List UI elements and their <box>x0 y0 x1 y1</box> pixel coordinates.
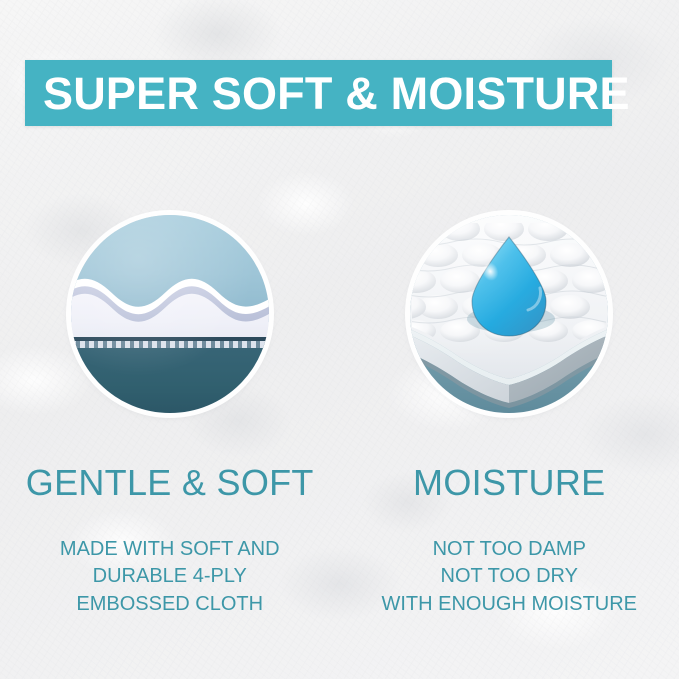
feature-column-moisture: MOISTURE NOT TOO DAMP NOT TOO DRY WITH E… <box>340 215 679 618</box>
feature-body-line: EMBOSSED CLOTH <box>60 591 280 618</box>
cloth-base-layer <box>71 342 269 413</box>
layered-cloth-cross-section-icon <box>71 215 269 413</box>
feature-body-line: DURABLE 4-PLY <box>60 563 280 590</box>
feature-heading-gentle-soft: GENTLE & SOFT <box>26 465 314 501</box>
feature-body-line: NOT TOO DRY <box>381 563 637 590</box>
feature-body-line: NOT TOO DAMP <box>381 536 637 563</box>
droplet-scene <box>410 215 608 413</box>
water-droplet-on-cloth-icon <box>410 215 608 413</box>
cloth-stitching-line <box>71 341 269 348</box>
feature-heading-moisture: MOISTURE <box>413 465 605 501</box>
feature-body-line: WITH ENOUGH MOISTURE <box>381 591 637 618</box>
feature-columns: GENTLE & SOFT MADE WITH SOFT AND DURABLE… <box>0 215 679 618</box>
feature-body-gentle-soft: MADE WITH SOFT AND DURABLE 4-PLY EMBOSSE… <box>60 536 280 618</box>
headline-banner: SUPER SOFT & MOISTURE <box>25 60 612 126</box>
infographic-page: SUPER SOFT & MOISTURE <box>0 0 679 679</box>
headline-title: SUPER SOFT & MOISTURE <box>25 71 630 116</box>
feature-body-line: MADE WITH SOFT AND <box>60 536 280 563</box>
feature-body-moisture: NOT TOO DAMP NOT TOO DRY WITH ENOUGH MOI… <box>381 536 637 618</box>
cloth-wavy-layer <box>71 276 269 341</box>
feature-column-gentle-soft: GENTLE & SOFT MADE WITH SOFT AND DURABLE… <box>0 215 340 618</box>
